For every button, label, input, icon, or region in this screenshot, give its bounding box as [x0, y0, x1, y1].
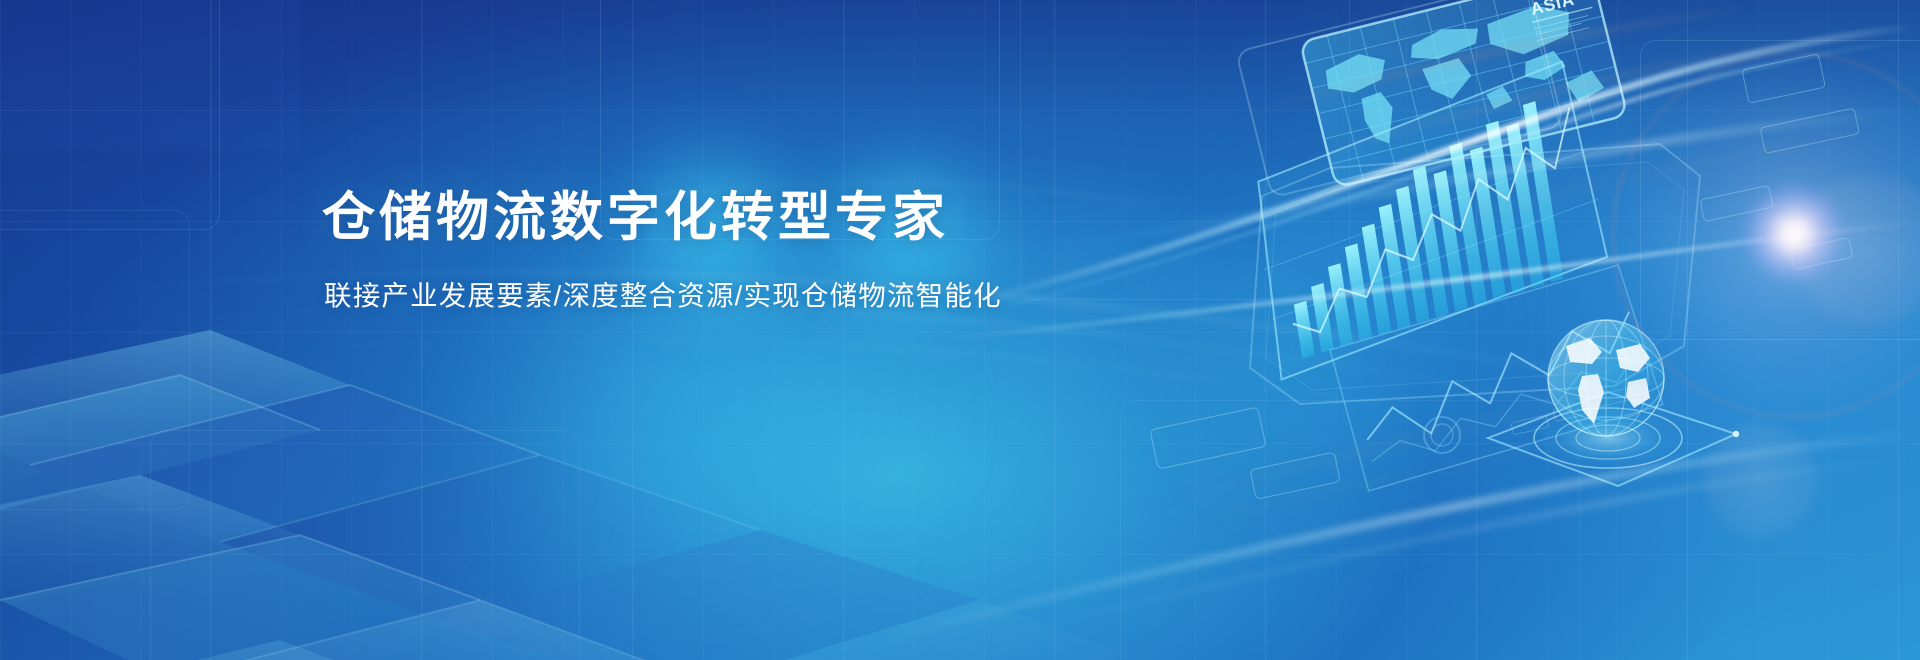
page-subtitle: 联接产业发展要素/深度整合资源/实现仓储物流智能化: [324, 273, 1082, 313]
hero-copy: 仓储物流数字化转型专家 联接产业发展要素/深度整合资源/实现仓储物流智能化: [322, 188, 1082, 313]
bg-rounded-rect: [1120, 400, 1580, 660]
page-title: 仓储物流数字化转型专家: [322, 188, 1082, 247]
bg-rounded-rect: [0, 0, 220, 230]
hero-banner: ASIA: [0, 0, 1920, 660]
lens-flare-core: [1742, 182, 1846, 286]
bg-rounded-rect: [0, 210, 190, 510]
bg-rounded-rect: [150, 430, 580, 660]
lens-flare-ghost: [1700, 420, 1820, 540]
